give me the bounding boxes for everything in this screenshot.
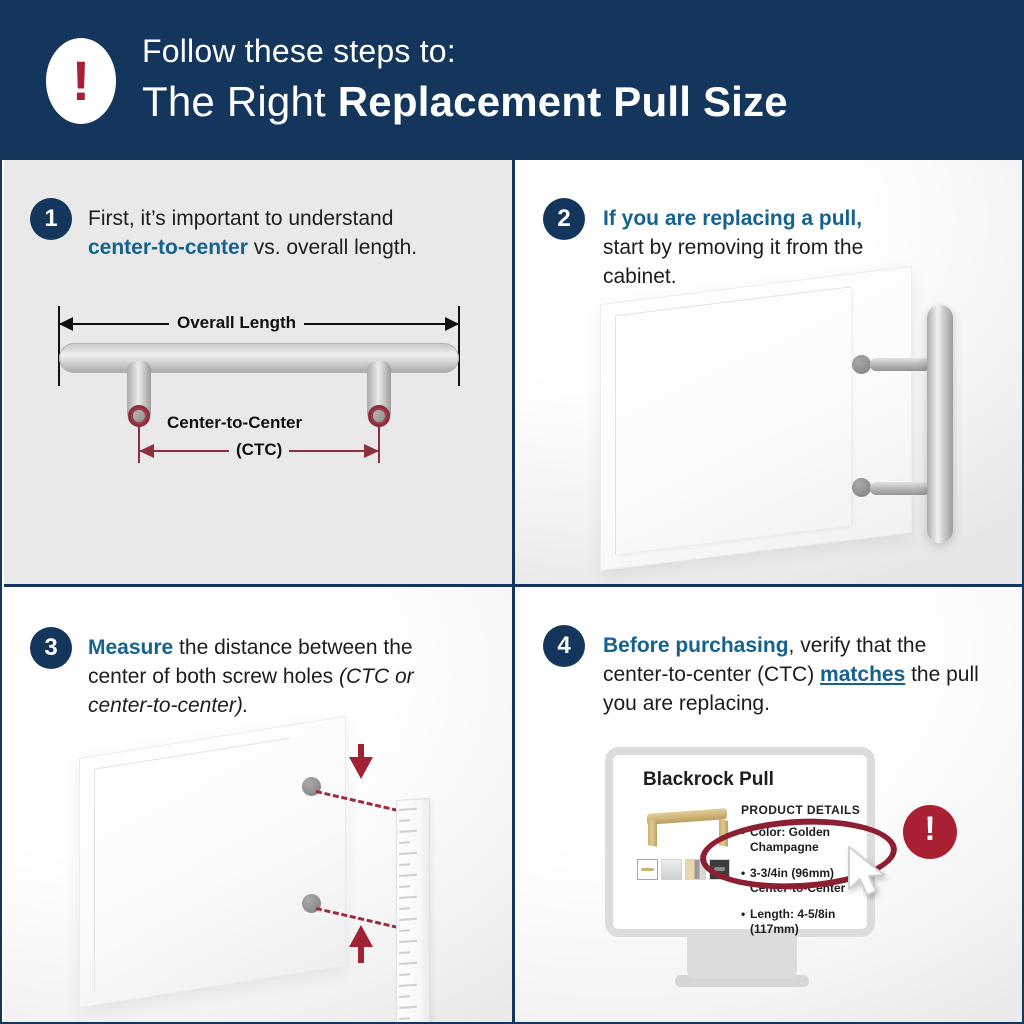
pull-screw-hole-right (368, 405, 390, 427)
step-badge-3: 3 (30, 627, 72, 669)
exclamation-circle-icon: ! (46, 38, 116, 124)
measure-arrow-up-tail (358, 945, 364, 963)
ruler-tick (399, 907, 410, 910)
header-title-light: The Right (142, 78, 338, 125)
cabinet-door-inner-frame-3 (94, 738, 290, 993)
panel-step-2: 2 If you are replacing a pull, start by … (515, 160, 1024, 584)
cabinet-door-graphic-2 (600, 266, 912, 571)
ruler-tick (399, 830, 417, 833)
step1-part-3: vs. overall length. (248, 236, 417, 259)
vertical-divider (512, 160, 515, 1024)
ruler-tick (399, 852, 417, 855)
measure-arrow-up-icon (349, 925, 373, 947)
step-text-4: Before purchasing, verify that the cente… (603, 631, 993, 718)
product-details-heading: PRODUCT DETAILS (741, 803, 860, 817)
pull-bar-graphic (59, 343, 459, 373)
ctc-label-line1: Center-to-Center (167, 413, 302, 433)
screw-hole-inner-left (133, 410, 145, 422)
ruler-tick (399, 940, 417, 943)
panel-step-1: 1 First, it’s important to understand ce… (4, 160, 512, 584)
thumbnail-1[interactable] (637, 859, 658, 880)
product-title: Blackrock Pull (643, 769, 774, 791)
header-title: The Right Replacement Pull Size (142, 78, 788, 126)
bar-pull-graphic-2 (927, 305, 953, 543)
measure-arrow-down-icon (349, 757, 373, 779)
pull-stem-bottom-2 (870, 482, 930, 495)
step2-part-1: If you are replacing a pull, (603, 207, 862, 230)
product-detail-length: Length: 4-5/8in (117mm) (741, 907, 871, 937)
ruler-tick (399, 808, 417, 811)
ctc-arrow-right (364, 444, 379, 458)
overall-length-label: Overall Length (169, 313, 304, 333)
thumbnail-2[interactable] (661, 859, 682, 880)
ruler-tick (399, 841, 410, 844)
ruler-tick (399, 885, 410, 888)
ruler-tick (399, 962, 417, 965)
ctc-arrow-left (139, 444, 154, 458)
step1-part-1: First, it’s important to understand (88, 207, 393, 230)
header-title-bold: Replacement Pull Size (338, 78, 788, 125)
ruler-tick (399, 819, 410, 822)
ruler-tick (399, 951, 410, 954)
ruler-tick (399, 929, 410, 932)
step4-part-3[interactable]: matches (820, 663, 905, 686)
ruler-tick (399, 1006, 417, 1009)
exclamation-circle-icon: ! (903, 805, 957, 859)
ruler-tick (399, 918, 417, 921)
ruler-tick (399, 896, 417, 899)
exclamation-glyph: ! (46, 54, 116, 108)
screw-hole-inner-right (373, 410, 385, 422)
overall-length-arrow-right (445, 317, 459, 331)
pull-screw-hole-left (128, 405, 150, 427)
screw-hole-bottom-2 (852, 478, 871, 497)
mouse-pointer-icon (845, 845, 891, 901)
ruler-tick (399, 973, 410, 976)
step1-part-2: center-to-center (88, 236, 248, 259)
header-eyebrow: Follow these steps to: (142, 33, 456, 70)
ruler-tick (399, 863, 410, 866)
step-badge-4: 4 (543, 625, 585, 667)
cabinet-door-inner-frame-2 (615, 286, 851, 554)
ruler-tick (399, 984, 417, 987)
step-text-3: Measure the distance between the center … (88, 633, 428, 720)
step-badge-1: 1 (30, 198, 72, 240)
infographic-page: ! Follow these steps to: The Right Repla… (0, 0, 1024, 1024)
header-banner: ! Follow these steps to: The Right Repla… (2, 2, 1024, 160)
step4-part-1: Before purchasing (603, 634, 789, 657)
exclamation-glyph: ! (903, 812, 957, 846)
product-pull-bar (647, 808, 727, 825)
ruler-tick (399, 995, 410, 998)
horizontal-divider (4, 584, 1024, 587)
product-pull-leg-left (648, 819, 657, 847)
step-badge-2: 2 (543, 198, 585, 240)
overall-length-arrow-left (59, 317, 73, 331)
ctc-label-line2: (CTC) (229, 440, 289, 460)
panel-step-4: 4 Before purchasing, verify that the cen… (515, 587, 1024, 1024)
pull-dimension-diagram: Overall Length Center-to-Center (CTC) (49, 305, 469, 465)
ruler-tick (399, 874, 417, 877)
screw-hole-top-2 (852, 355, 871, 374)
cabinet-door-graphic-3 (79, 716, 346, 1008)
panel-step-3: 3 Measure the distance between the cente… (4, 587, 512, 1024)
pull-stem-top-2 (870, 358, 930, 371)
step-text-1: First, it’s important to understand cent… (88, 204, 458, 262)
ruler-tick (399, 1017, 410, 1020)
step3-part-1: Measure (88, 636, 173, 659)
ruler-graphic (396, 798, 430, 1024)
